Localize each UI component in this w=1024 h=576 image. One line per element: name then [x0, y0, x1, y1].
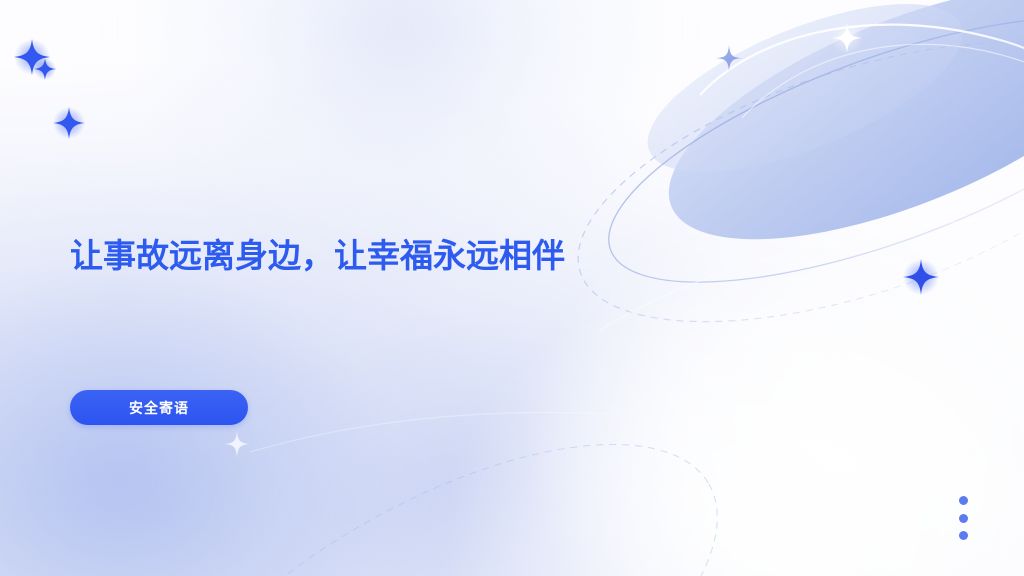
page-title: 让事故远离身边，让幸福永远相伴	[70, 236, 565, 276]
slide-canvas: 让事故远离身边，让幸福永远相伴 安全寄语	[0, 0, 1024, 576]
more-options-icon[interactable]	[955, 496, 971, 540]
safety-message-button[interactable]: 安全寄语	[70, 390, 248, 425]
more-dot-2	[959, 514, 968, 523]
more-dot-1	[959, 496, 968, 505]
more-dot-3	[959, 531, 968, 540]
